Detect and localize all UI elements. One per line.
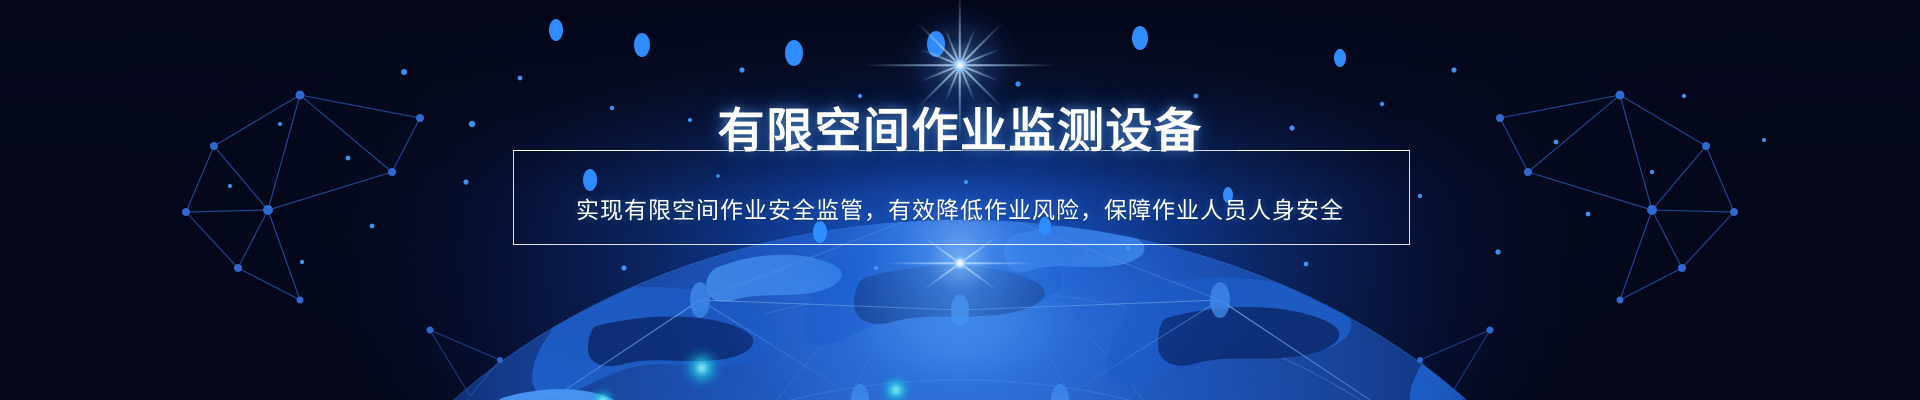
banner-subtitle: 实现有限空间作业安全监管，有效降低作业风险，保障作业人员人身安全 <box>0 194 1920 226</box>
hero-banner: 有限空间作业监测设备 实现有限空间作业安全监管，有效降低作业风险，保障作业人员人… <box>0 0 1920 400</box>
cyan-glow-left <box>680 346 724 390</box>
banner-title: 有限空间作业监测设备 <box>0 104 1920 158</box>
cyan-glow-center <box>878 372 914 400</box>
